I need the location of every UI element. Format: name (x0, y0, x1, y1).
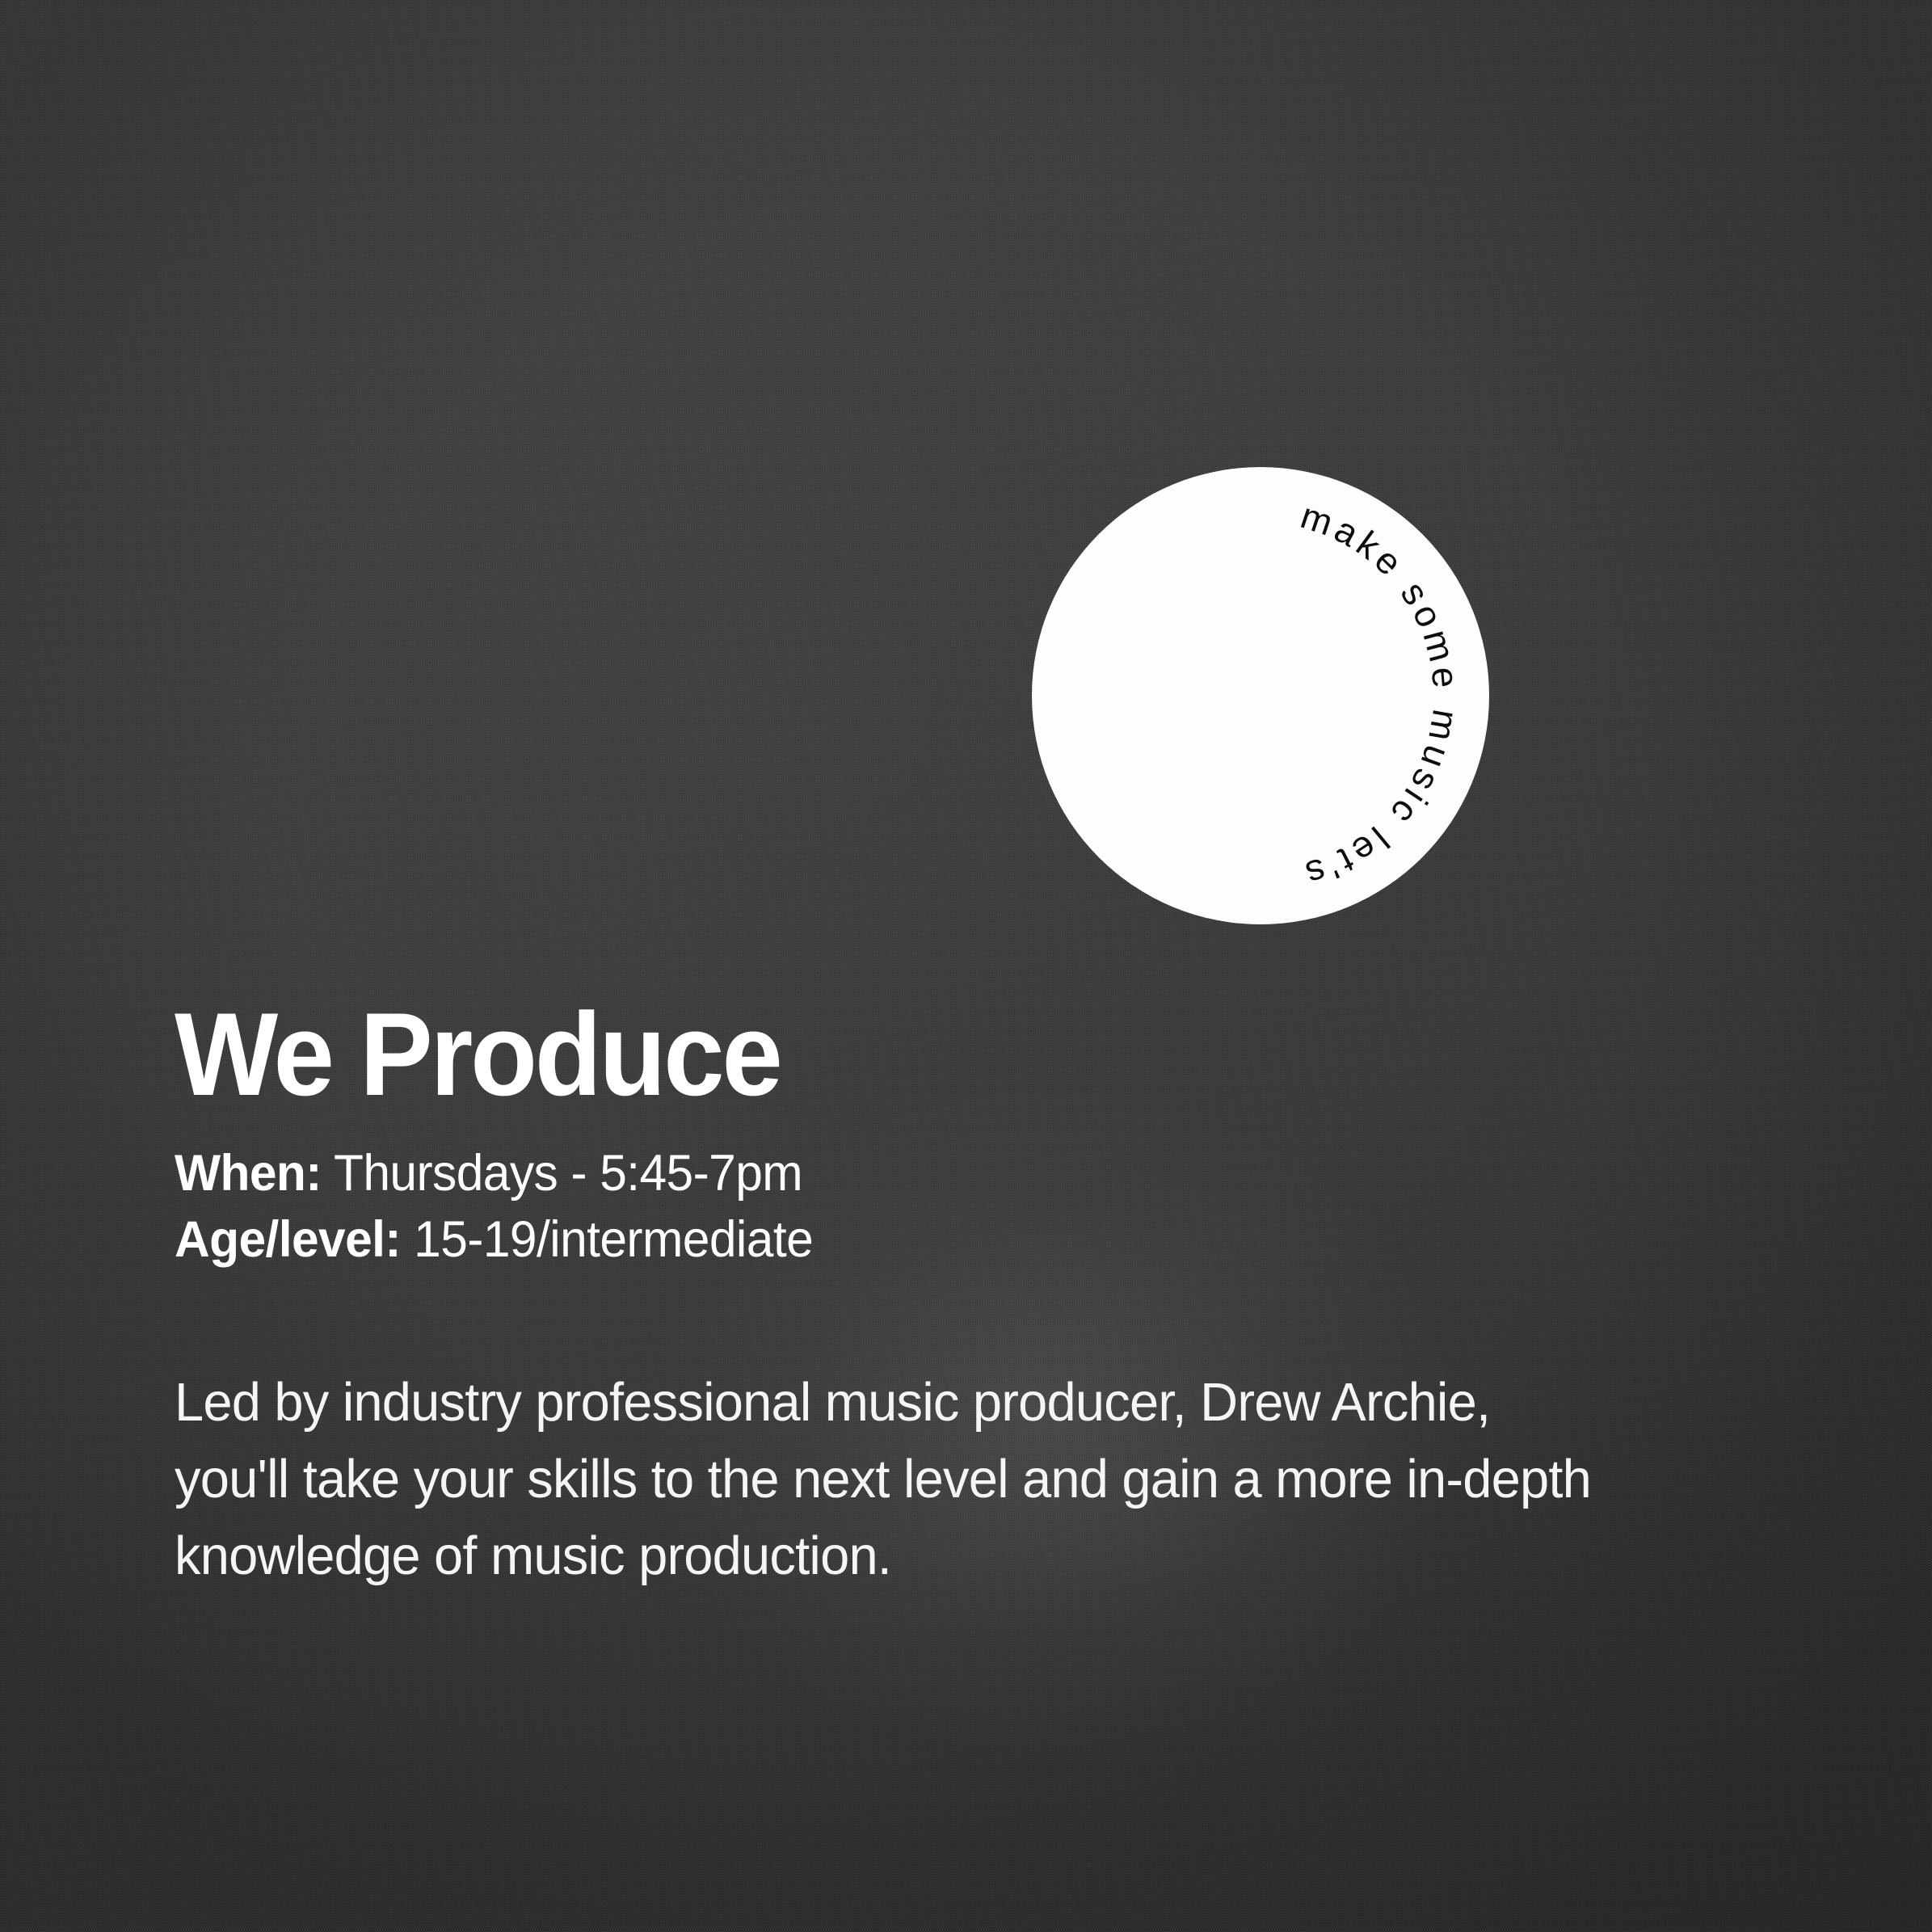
content-column: We Produce When: Thursdays - 5:45-7pm Ag… (175, 995, 1677, 1648)
session-details: When: Thursdays - 5:45-7pm Age/level: 15… (175, 1141, 1618, 1273)
make-some-music-badge: make some music let's (1032, 467, 1489, 924)
detail-row-when: When: Thursdays - 5:45-7pm (175, 1141, 1618, 1207)
detail-value-age-level: 15-19/intermediate (401, 1211, 813, 1268)
badge-text-path: make some music let's (1296, 495, 1467, 896)
badge-circular-text: make some music let's (1032, 467, 1489, 924)
badge-text-content: make some music let's (1296, 495, 1467, 896)
detail-value-when: Thursdays - 5:45-7pm (322, 1145, 802, 1202)
description-paragraph: Led by industry professional music produ… (175, 1364, 1593, 1594)
page-title: We Produce (175, 995, 1572, 1113)
detail-label-age-level: Age/level: (175, 1211, 401, 1268)
detail-label-when: When: (175, 1145, 322, 1202)
detail-row-age-level: Age/level: 15-19/intermediate (175, 1207, 1618, 1273)
poster-canvas: make some music let's We Produce When: T… (0, 0, 1932, 1932)
